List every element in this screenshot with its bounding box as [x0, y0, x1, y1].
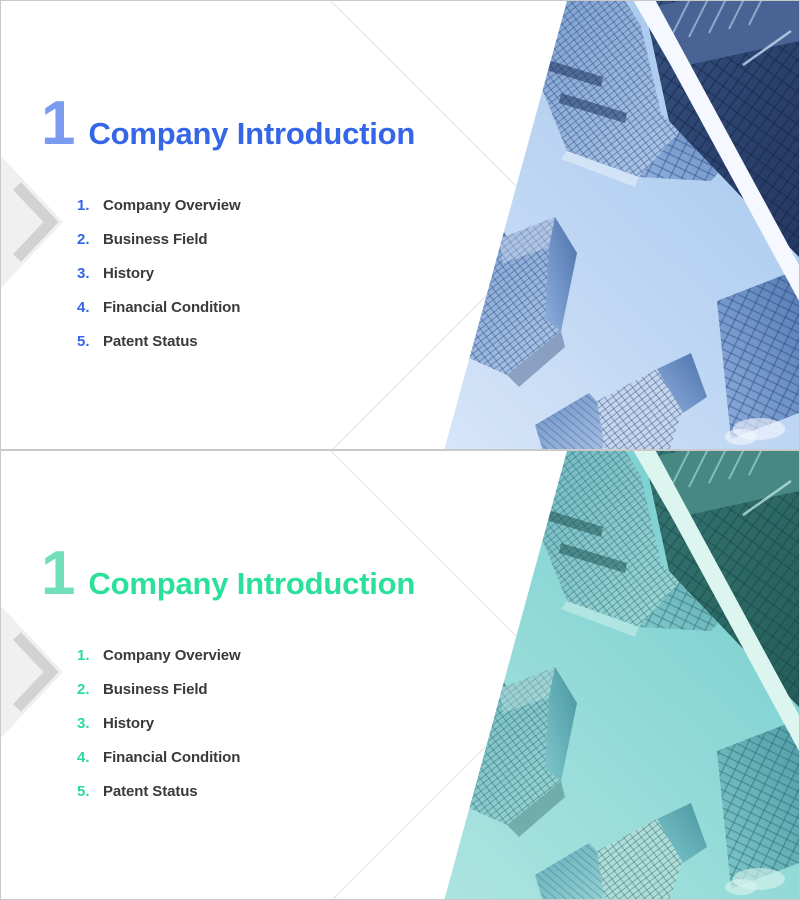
agenda-item-label: Patent Status — [103, 333, 198, 350]
agenda-item-number: 1. — [77, 197, 103, 214]
agenda-item-number: 1. — [77, 647, 103, 664]
agenda-item-label: Patent Status — [103, 783, 198, 800]
agenda-item-number: 4. — [77, 299, 103, 316]
agenda-item[interactable]: 1.Company Overview — [77, 197, 241, 231]
skyline-photo — [339, 1, 799, 450]
agenda-item-label: History — [103, 265, 154, 282]
slide-blue[interactable]: 1 Company Introduction 1.Company Overvie… — [0, 0, 800, 450]
agenda-item-number: 3. — [77, 715, 103, 732]
slide-headline: 1 Company Introduction — [41, 93, 415, 155]
agenda-item-number: 5. — [77, 783, 103, 800]
page-title: Company Introduction — [88, 118, 415, 149]
agenda-item-label: Business Field — [103, 231, 207, 248]
agenda-item[interactable]: 5.Patent Status — [77, 783, 241, 817]
agenda-item-label: Company Overview — [103, 197, 241, 214]
agenda-item[interactable]: 2.Business Field — [77, 681, 241, 715]
slide-headline: 1 Company Introduction — [41, 543, 415, 605]
skyline-photo — [339, 451, 799, 900]
agenda-item-number: 5. — [77, 333, 103, 350]
agenda-item-number: 3. — [77, 265, 103, 282]
slide-deck: 1 Company Introduction 1.Company Overvie… — [0, 0, 800, 900]
agenda-list: 1.Company Overview2.Business Field3.Hist… — [77, 197, 241, 367]
agenda-item-number: 2. — [77, 231, 103, 248]
section-number: 1 — [41, 93, 74, 155]
agenda-item-label: Financial Condition — [103, 299, 240, 316]
agenda-item[interactable]: 4.Financial Condition — [77, 749, 241, 783]
agenda-item[interactable]: 2.Business Field — [77, 231, 241, 265]
agenda-item[interactable]: 1.Company Overview — [77, 647, 241, 681]
agenda-item-label: History — [103, 715, 154, 732]
agenda-item[interactable]: 4.Financial Condition — [77, 299, 241, 333]
section-number: 1 — [41, 543, 74, 605]
agenda-item-number: 4. — [77, 749, 103, 766]
agenda-item[interactable]: 5.Patent Status — [77, 333, 241, 367]
agenda-item-label: Company Overview — [103, 647, 241, 664]
agenda-item-label: Financial Condition — [103, 749, 240, 766]
agenda-item[interactable]: 3.History — [77, 265, 241, 299]
agenda-item-label: Business Field — [103, 681, 207, 698]
chevron-right-icon — [1, 606, 63, 738]
agenda-item[interactable]: 3.History — [77, 715, 241, 749]
agenda-list: 1.Company Overview2.Business Field3.Hist… — [77, 647, 241, 817]
chevron-right-icon — [1, 156, 63, 288]
slide-green[interactable]: 1 Company Introduction 1.Company Overvie… — [0, 450, 800, 900]
agenda-item-number: 2. — [77, 681, 103, 698]
page-title: Company Introduction — [88, 568, 415, 599]
